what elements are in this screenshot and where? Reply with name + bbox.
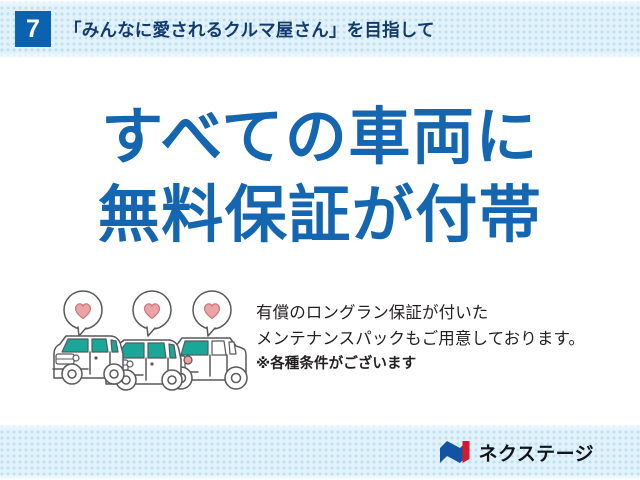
car-kei-van (53, 336, 124, 384)
content-row: 有償のロングラン保証が付いた メンテナンスパックもご用意しております。 ※各種条… (0, 288, 640, 403)
heart-bubble-right (193, 291, 231, 336)
body-copy-line-2: メンテナンスパックもご用意しております。 (256, 326, 636, 352)
brand-name: ネクステージ (479, 439, 594, 466)
header: 7 「みんなに愛されるクルマ屋さん」を目指して (0, 0, 640, 58)
headline-line-1: すべての車両に (0, 98, 640, 176)
header-title: 「みんなに愛されるクルマ屋さん」を目指して (64, 17, 435, 42)
headline: すべての車両に 無料保証が付帯 (0, 98, 640, 254)
footer: ネクステージ (0, 424, 640, 480)
headline-line-2: 無料保証が付帯 (0, 176, 640, 254)
heart-bubble-left (64, 291, 102, 336)
heart-bubble-center (133, 291, 171, 336)
nextage-n-icon (438, 439, 472, 465)
body-copy-note: ※各種条件がございます (256, 352, 636, 377)
brand-logo: ネクステージ (438, 439, 594, 466)
cars-illustration (48, 288, 253, 400)
body-copy: 有償のロングラン保証が付いた メンテナンスパックもご用意しております。 ※各種条… (256, 300, 636, 377)
body-copy-line-1: 有償のロングラン保証が付いた (256, 300, 636, 326)
slide-canvas: 7 「みんなに愛されるクルマ屋さん」を目指して すべての車両に 無料保証が付帯 (0, 0, 640, 480)
step-number-badge: 7 (15, 11, 51, 47)
